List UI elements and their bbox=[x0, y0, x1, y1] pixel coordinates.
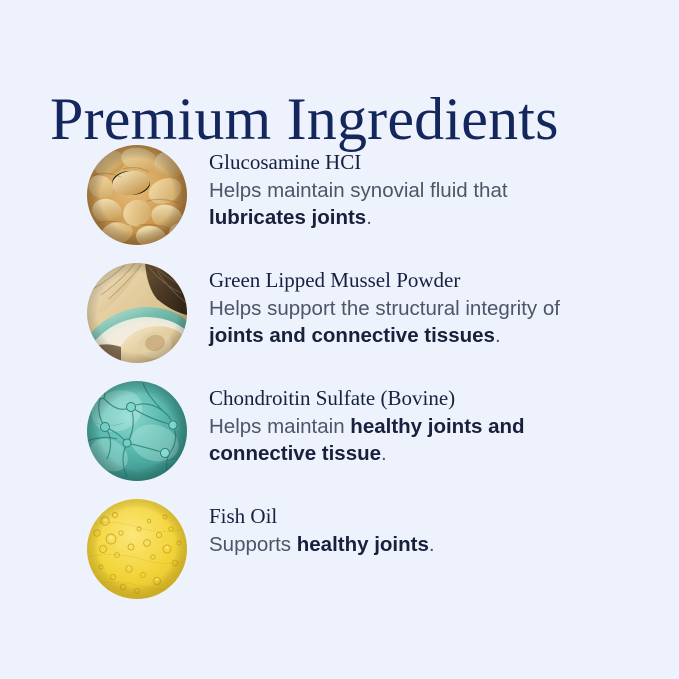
amber-resin-granules-icon bbox=[87, 145, 187, 245]
list-item: Glucosamine HCI Helps maintain synovial … bbox=[0, 137, 679, 255]
ingredient-image-chondroitin bbox=[87, 381, 187, 481]
ingredient-description: Helps maintain healthy joints and connec… bbox=[209, 413, 609, 467]
yellow-fish-oil-icon bbox=[87, 499, 187, 599]
list-item: Green Lipped Mussel Powder Helps support… bbox=[0, 255, 679, 373]
ingredient-text-block: Fish Oil Supports healthy joints. bbox=[209, 491, 435, 558]
desc-suffix: . bbox=[366, 206, 372, 229]
ingredient-image-fish-oil bbox=[87, 499, 187, 599]
desc-prefix: Helps maintain synovial fluid that bbox=[209, 179, 508, 202]
desc-highlight: joints and connective tissues bbox=[209, 324, 495, 347]
desc-suffix: . bbox=[495, 324, 501, 347]
ingredient-image-glucosamine bbox=[87, 145, 187, 245]
desc-suffix: . bbox=[429, 533, 435, 556]
ingredient-list: Glucosamine HCI Helps maintain synovial … bbox=[0, 137, 679, 609]
ingredient-text-block: Chondroitin Sulfate (Bovine) Helps maint… bbox=[209, 373, 609, 467]
ingredient-description: Supports healthy joints. bbox=[209, 531, 435, 558]
desc-suffix: . bbox=[381, 442, 387, 465]
list-item: Fish Oil Supports healthy joints. bbox=[0, 491, 679, 609]
ingredient-description: Helps maintain synovial fluid that lubri… bbox=[209, 177, 609, 231]
premium-ingredients-poster: Premium Ingredients bbox=[0, 0, 679, 679]
ingredient-name: Fish Oil bbox=[209, 503, 435, 529]
ingredient-image-green-lipped-mussel bbox=[87, 263, 187, 363]
desc-highlight: healthy joints bbox=[297, 533, 429, 556]
desc-prefix: Helps support the structural integrity o… bbox=[209, 297, 560, 320]
ingredient-name: Green Lipped Mussel Powder bbox=[209, 267, 609, 293]
ingredient-name: Chondroitin Sulfate (Bovine) bbox=[209, 385, 609, 411]
green-lipped-mussel-shell-icon bbox=[87, 263, 187, 363]
desc-highlight: lubricates joints bbox=[209, 206, 366, 229]
ingredient-name: Glucosamine HCI bbox=[209, 149, 609, 175]
ingredient-text-block: Glucosamine HCI Helps maintain synovial … bbox=[209, 137, 609, 231]
list-item: Chondroitin Sulfate (Bovine) Helps maint… bbox=[0, 373, 679, 491]
desc-prefix: Supports bbox=[209, 533, 297, 556]
teal-cartilage-cells-icon bbox=[87, 381, 187, 481]
desc-prefix: Helps maintain bbox=[209, 415, 350, 438]
ingredient-text-block: Green Lipped Mussel Powder Helps support… bbox=[209, 255, 609, 349]
ingredient-description: Helps support the structural integrity o… bbox=[209, 295, 609, 349]
